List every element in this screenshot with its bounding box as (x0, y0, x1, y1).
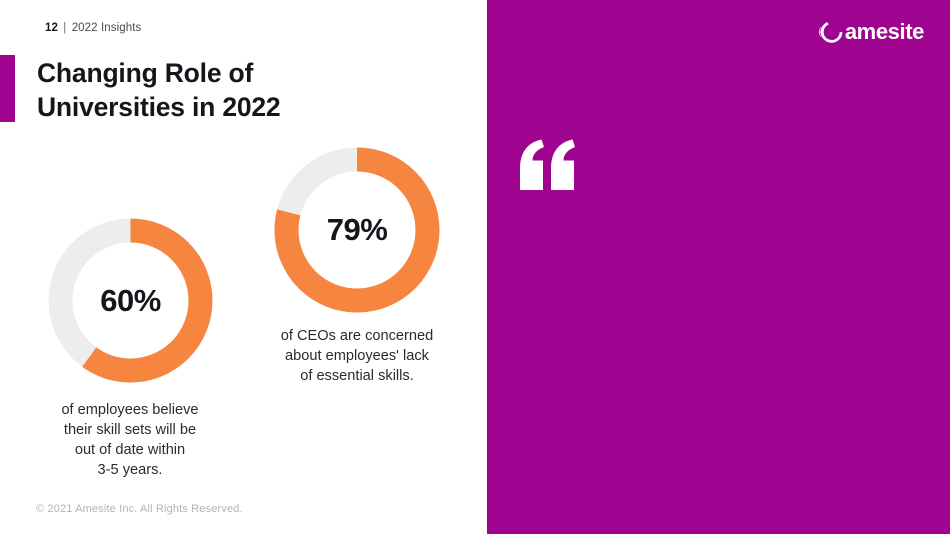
page-meta: 12 | 2022 Insights (45, 22, 141, 34)
page-title: Changing Role of Universities in 2022 (37, 57, 457, 125)
title-accent-bar (0, 55, 15, 122)
stat-block-79: 79% of CEOs are concerned about employee… (274, 147, 440, 387)
donut-chart-60: 60% (48, 218, 213, 383)
donut-value-label-60: 60% (48, 218, 213, 383)
copyright-footer: © 2021 Amesite Inc. All Rights Reserved. (36, 503, 243, 515)
stat-block-60: 60% of employees believe their skill set… (48, 218, 213, 481)
meta-separator: | (63, 22, 66, 34)
amesite-wordmark: amesite (845, 21, 924, 43)
donut-value-label-79: 79% (274, 147, 440, 313)
amesite-c-arcs-logo-icon (816, 17, 846, 47)
open-double-quote-icon (518, 138, 580, 190)
quote-panel: amesite Universities must become provide… (487, 0, 950, 534)
page-number: 12 (45, 22, 58, 34)
deck-name: 2022 Insights (72, 22, 142, 34)
stat-caption-60: of employees believe their skill sets wi… (40, 401, 220, 481)
slide-canvas: amesite Universities must become provide… (0, 0, 950, 534)
stat-caption-79: of CEOs are concerned about employees' l… (259, 327, 455, 387)
amesite-logo: amesite (816, 17, 924, 47)
donut-chart-79: 79% (274, 147, 440, 313)
